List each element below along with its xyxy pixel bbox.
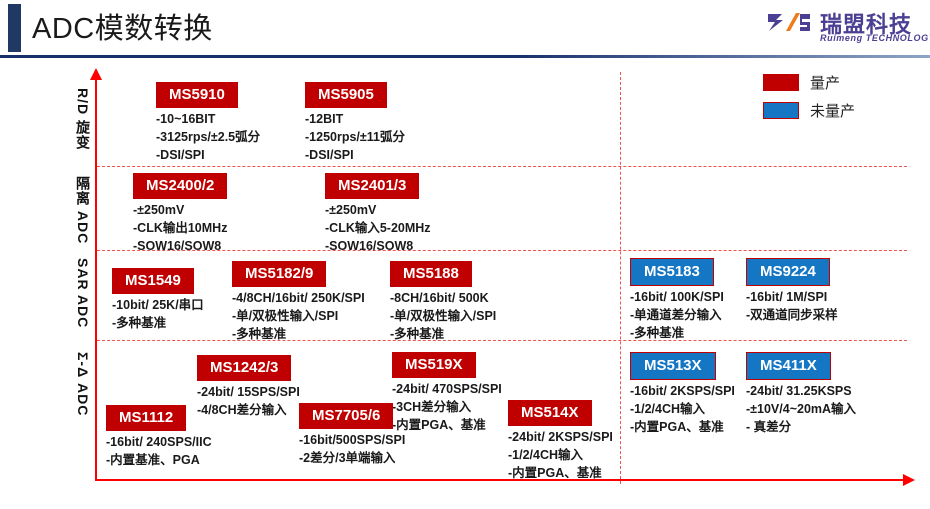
product-card-ms519x[interactable]: MS519X -24bit/ 470SPS/SPI -3CH差分输入 -内置PG… — [392, 352, 502, 434]
spec-line: -10bit/ 25K/串口 — [112, 297, 204, 315]
spec-line: -3125rps/±2.5弧分 — [156, 129, 260, 147]
spec-line: -内置PGA、基准 — [630, 419, 735, 437]
product-card-ms5188[interactable]: MS5188 -8CH/16bit/ 500K -单/双极性输入/SPI -多种… — [390, 261, 496, 343]
product-specs: -±250mV -CLK输入5-20MHz -SOW16/SOW8 — [325, 202, 431, 255]
x-axis-line — [95, 479, 905, 481]
spec-line: - 真差分 — [746, 419, 856, 437]
product-card-ms411x[interactable]: MS411X -24bit/ 31.25KSPS -±10V/4~20mA输入 … — [746, 352, 856, 436]
column-divider — [620, 72, 621, 484]
product-specs: -4/8CH/16bit/ 250K/SPI -单/双极性输入/SPI -多种基… — [232, 290, 365, 343]
product-card-ms514x[interactable]: MS514X -24bit/ 2KSPS/SPI -1/2/4CH输入 -内置P… — [508, 400, 613, 482]
product-specs: -12BIT -1250rps/±11弧分 -DSI/SPI — [305, 111, 405, 164]
product-chip[interactable]: MS519X — [392, 352, 476, 378]
product-specs: -16bit/ 100K/SPI -单通道差分输入 -多种基准 — [630, 289, 724, 342]
product-specs: -16bit/ 2KSPS/SPI -1/2/4CH输入 -内置PGA、基准 — [630, 383, 735, 436]
legend-label-not-mass-production: 未量产 — [810, 100, 855, 121]
page-title: ADC模数转换 — [32, 5, 213, 47]
category-label-sigma-delta-adc: Σ-Δ ADC — [62, 352, 90, 416]
product-chip[interactable]: MS411X — [746, 352, 831, 380]
logo-mark-icon — [766, 11, 818, 35]
spec-line: -1/2/4CH输入 — [508, 447, 613, 465]
spec-line: -±250mV — [325, 202, 431, 220]
product-chip[interactable]: MS5905 — [305, 82, 387, 108]
spec-line: -多种基准 — [630, 325, 724, 343]
product-specs: -24bit/ 470SPS/SPI -3CH差分输入 -内置PGA、基准 — [392, 381, 502, 434]
spec-line: -12BIT — [305, 111, 405, 129]
product-chip[interactable]: MS1112 — [106, 405, 186, 431]
product-card-ms2401-3[interactable]: MS2401/3 -±250mV -CLK输入5-20MHz -SOW16/SO… — [325, 173, 431, 255]
product-card-ms5183[interactable]: MS5183 -16bit/ 100K/SPI -单通道差分输入 -多种基准 — [630, 258, 724, 342]
company-logo: 瑞盟科技 Ruimeng TECHNOLOGY — [766, 6, 918, 48]
spec-line: -3CH差分输入 — [392, 399, 502, 417]
logo-english-name: Ruimeng TECHNOLOGY — [820, 33, 930, 43]
spec-line: -DSI/SPI — [156, 147, 260, 165]
product-specs: -24bit/ 2KSPS/SPI -1/2/4CH输入 -内置PGA、基准 — [508, 429, 613, 482]
spec-line: -±250mV — [133, 202, 227, 220]
row-divider-1 — [97, 166, 907, 167]
legend-label-mass-production: 量产 — [810, 72, 840, 93]
spec-line: -24bit/ 2KSPS/SPI — [508, 429, 613, 447]
product-chip[interactable]: MS5910 — [156, 82, 238, 108]
spec-line: -24bit/ 15SPS/SPI — [197, 384, 300, 402]
legend: 量产 未量产 — [763, 72, 855, 128]
page-header: ADC模数转换 瑞盟科技 Ruimeng TECHNOLOGY — [0, 0, 930, 57]
header-divider — [0, 55, 930, 58]
legend-item-mass-production: 量产 — [763, 72, 855, 93]
spec-line: -多种基准 — [232, 326, 365, 344]
product-card-ms513x[interactable]: MS513X -16bit/ 2KSPS/SPI -1/2/4CH输入 -内置P… — [630, 352, 735, 436]
spec-line: -SOW16/SOW8 — [325, 238, 431, 256]
spec-line: -16bit/500SPS/SPI — [299, 432, 405, 450]
product-chip[interactable]: MS2400/2 — [133, 173, 227, 199]
category-label-rd: R/D 旋变 — [62, 88, 90, 150]
legend-item-not-mass-production: 未量产 — [763, 100, 855, 121]
spec-line: -±10V/4~20mA输入 — [746, 401, 856, 419]
spec-line: -DSI/SPI — [305, 147, 405, 165]
product-chip[interactable]: MS1549 — [112, 268, 194, 294]
spec-line: -多种基准 — [112, 315, 204, 333]
row-divider-3 — [97, 340, 907, 341]
spec-line: -CLK输出10MHz — [133, 220, 227, 238]
spec-line: -1250rps/±11弧分 — [305, 129, 405, 147]
category-label-sar-adc: SAR ADC — [62, 258, 90, 328]
spec-line: -24bit/ 31.25KSPS — [746, 383, 856, 401]
spec-line: -多种基准 — [390, 326, 496, 344]
product-card-ms5182-9[interactable]: MS5182/9 -4/8CH/16bit/ 250K/SPI -单/双极性输入… — [232, 261, 365, 343]
spec-line: -内置PGA、基准 — [508, 465, 613, 483]
product-chip[interactable]: MS7705/6 — [299, 403, 393, 429]
header-accent-bar — [8, 4, 21, 52]
legend-swatch-red — [763, 74, 799, 91]
product-chip[interactable]: MS9224 — [746, 258, 830, 286]
product-chip[interactable]: MS5183 — [630, 258, 714, 286]
product-specs: -±250mV -CLK输出10MHz -SOW16/SOW8 — [133, 202, 227, 255]
product-chip[interactable]: MS5182/9 — [232, 261, 326, 287]
product-specs: -10~16BIT -3125rps/±2.5弧分 -DSI/SPI — [156, 111, 260, 164]
product-specs: -16bit/ 1M/SPI -双通道同步采样 — [746, 289, 838, 325]
product-card-ms1242-3[interactable]: MS1242/3 -24bit/ 15SPS/SPI -4/8CH差分输入 — [197, 355, 300, 420]
spec-line: -单/双极性输入/SPI — [390, 308, 496, 326]
product-specs: -16bit/500SPS/SPI -2差分/3单端输入 — [299, 432, 405, 468]
spec-line: -内置PGA、基准 — [392, 417, 502, 435]
spec-line: -4/8CH/16bit/ 250K/SPI — [232, 290, 365, 308]
category-label-isolated-adc: 隔离 ADC — [62, 176, 90, 244]
spec-line: -CLK输入5-20MHz — [325, 220, 431, 238]
y-axis-arrow-icon — [90, 68, 102, 80]
y-axis-line — [95, 78, 97, 481]
spec-line: -16bit/ 2KSPS/SPI — [630, 383, 735, 401]
product-chip[interactable]: MS513X — [630, 352, 716, 380]
spec-line: -单/双极性输入/SPI — [232, 308, 365, 326]
spec-line: -4/8CH差分输入 — [197, 402, 300, 420]
x-axis-arrow-icon — [903, 474, 915, 486]
product-chip[interactable]: MS1242/3 — [197, 355, 291, 381]
product-specs: -24bit/ 15SPS/SPI -4/8CH差分输入 — [197, 384, 300, 420]
product-chip[interactable]: MS514X — [508, 400, 592, 426]
product-card-ms2400-2[interactable]: MS2400/2 -±250mV -CLK输出10MHz -SOW16/SOW8 — [133, 173, 227, 255]
spec-line: -8CH/16bit/ 500K — [390, 290, 496, 308]
spec-line: -2差分/3单端输入 — [299, 450, 405, 468]
spec-line: -16bit/ 100K/SPI — [630, 289, 724, 307]
spec-line: -SOW16/SOW8 — [133, 238, 227, 256]
product-card-ms5905[interactable]: MS5905 -12BIT -1250rps/±11弧分 -DSI/SPI — [305, 82, 405, 164]
legend-swatch-blue — [763, 102, 799, 119]
product-card-ms7705-6[interactable]: MS7705/6 -16bit/500SPS/SPI -2差分/3单端输入 — [299, 403, 405, 468]
spec-line: -1/2/4CH输入 — [630, 401, 735, 419]
spec-line: -24bit/ 470SPS/SPI — [392, 381, 502, 399]
product-card-ms1549[interactable]: MS1549 -10bit/ 25K/串口 -多种基准 — [112, 268, 204, 333]
spec-line: -16bit/ 1M/SPI — [746, 289, 838, 307]
product-specs: -24bit/ 31.25KSPS -±10V/4~20mA输入 - 真差分 — [746, 383, 856, 436]
product-chip[interactable]: MS2401/3 — [325, 173, 419, 199]
spec-line: -单通道差分输入 — [630, 307, 724, 325]
product-card-ms1112[interactable]: MS1112 -16bit/ 240SPS/IIC -内置基准、PGA — [106, 405, 212, 470]
product-specs: -8CH/16bit/ 500K -单/双极性输入/SPI -多种基准 — [390, 290, 496, 343]
spec-line: -内置基准、PGA — [106, 452, 212, 470]
spec-line: -双通道同步采样 — [746, 307, 838, 325]
spec-line: -16bit/ 240SPS/IIC — [106, 434, 212, 452]
product-chip[interactable]: MS5188 — [390, 261, 472, 287]
product-card-ms9224[interactable]: MS9224 -16bit/ 1M/SPI -双通道同步采样 — [746, 258, 838, 325]
product-specs: -16bit/ 240SPS/IIC -内置基准、PGA — [106, 434, 212, 470]
product-specs: -10bit/ 25K/串口 -多种基准 — [112, 297, 204, 333]
spec-line: -10~16BIT — [156, 111, 260, 129]
product-card-ms5910[interactable]: MS5910 -10~16BIT -3125rps/±2.5弧分 -DSI/SP… — [156, 82, 260, 164]
